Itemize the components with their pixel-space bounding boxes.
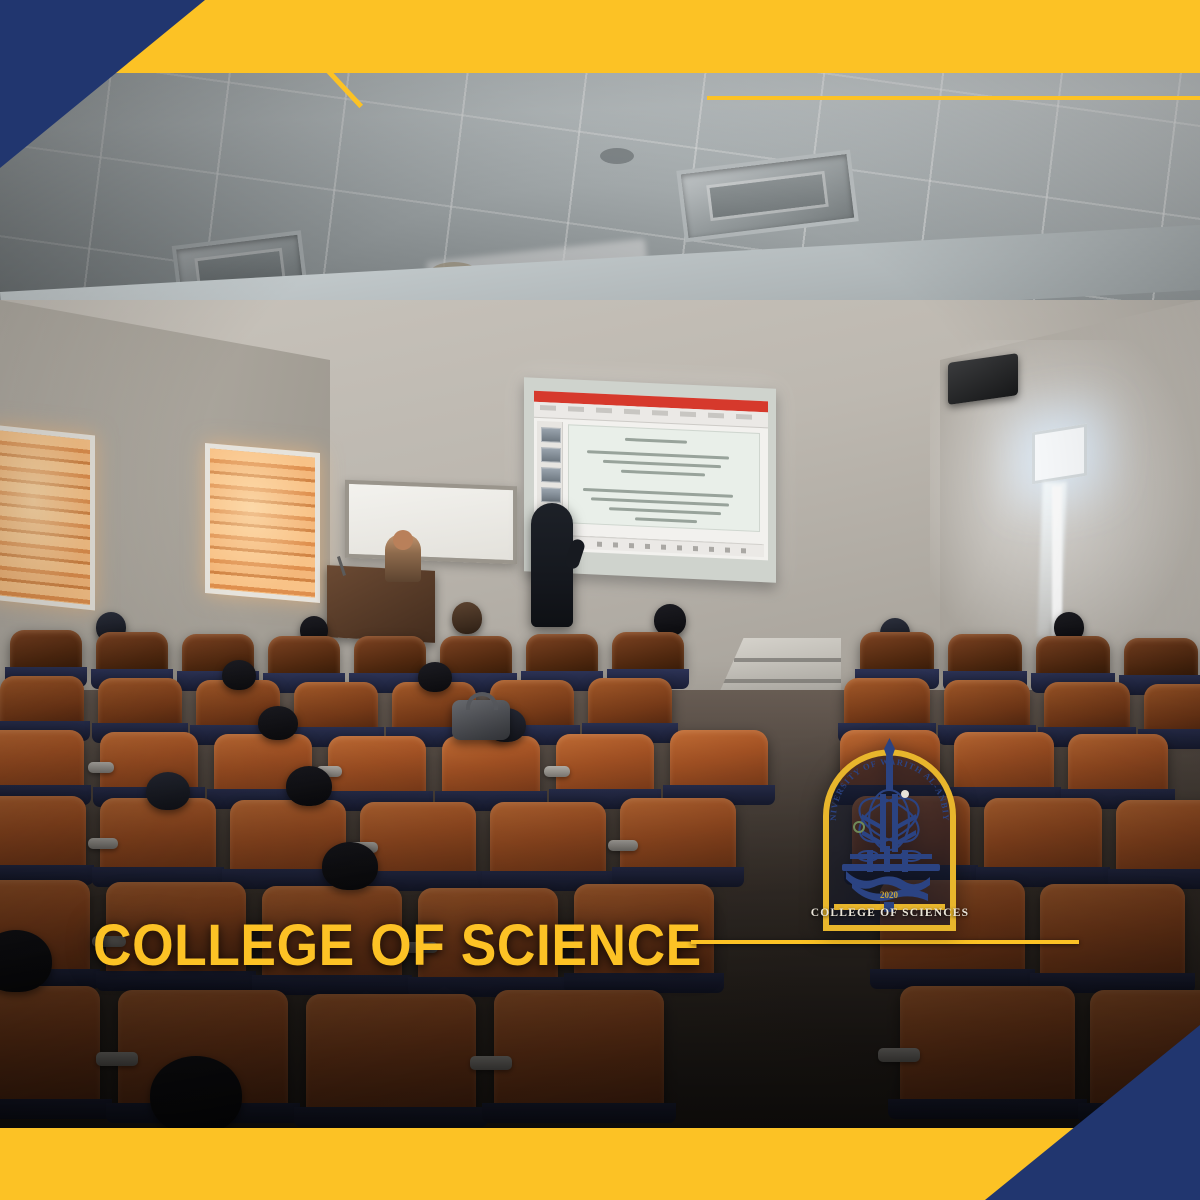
- logo-pillar: [880, 794, 886, 852]
- yellow-diagonal-accent: [322, 70, 366, 106]
- logo-caption: COLLEGE OF SCIENCES: [806, 907, 974, 919]
- photo-vignette: [0, 0, 1200, 1200]
- page-title: COLLEGE OF SCIENCE: [93, 912, 702, 979]
- logo-accent-dot: [901, 790, 909, 798]
- logo-year: 2020: [880, 890, 899, 900]
- lecture-hall-photo: [0, 0, 1200, 1200]
- logo-finial-icon: [884, 738, 895, 756]
- poster-canvas: COLLEGE OF SCIENCE UNIVERSITY OF WARITH …: [0, 0, 1200, 1200]
- top-right-yellow-rule: [707, 96, 1200, 100]
- university-logo: UNIVERSITY OF WARITH AL-ANBIYA: [812, 732, 967, 932]
- logo-pillar: [892, 794, 898, 852]
- title-yellow-rule: [691, 940, 1079, 944]
